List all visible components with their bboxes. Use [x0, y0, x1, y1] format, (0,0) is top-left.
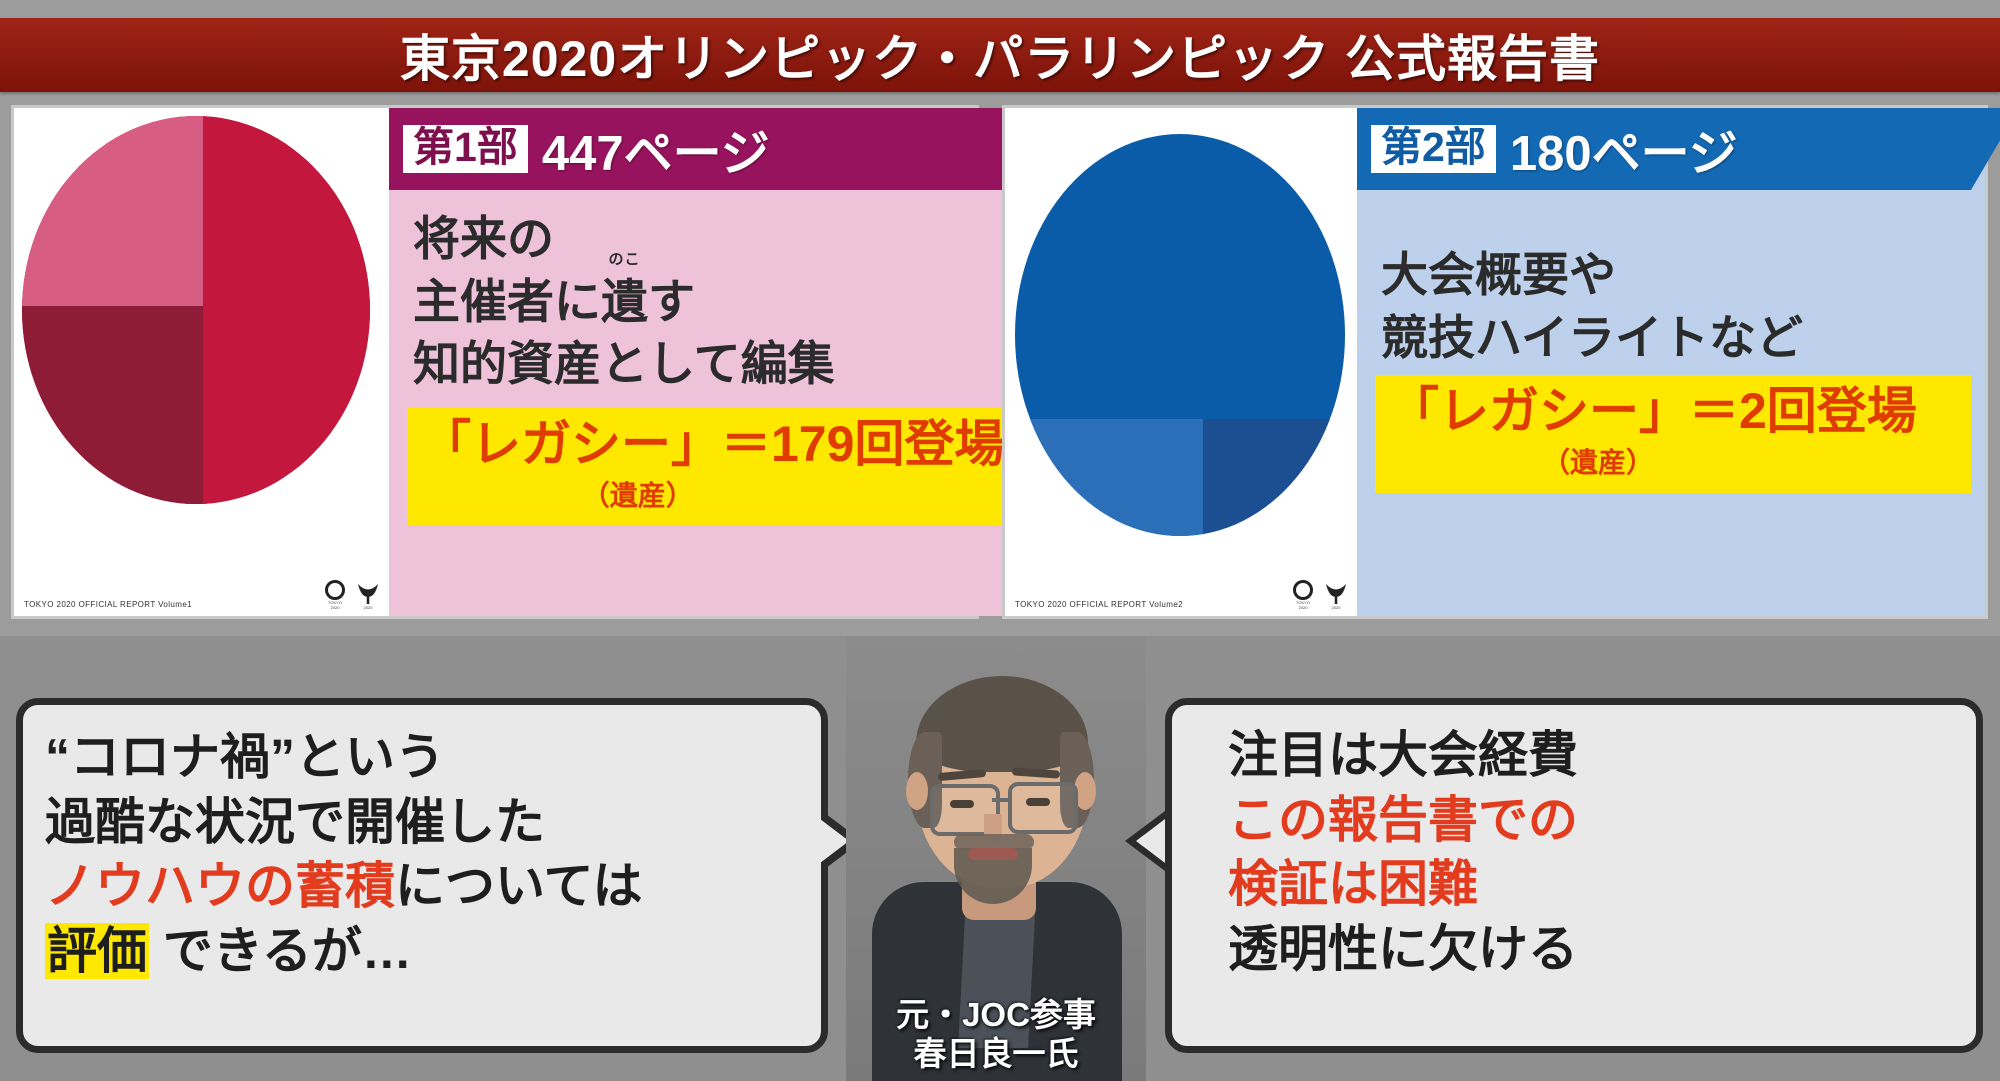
quote-right-line-3: 検証は困難 [1228, 852, 1976, 917]
panel-part-chip: 第2部 [1371, 125, 1496, 173]
quote-left-line-3: ノウハウの蓄積については [45, 854, 821, 919]
speech-bubble-right-text: 注目は大会経費 この報告書での 検証は困難 透明性に欠ける [1172, 705, 1976, 981]
cover-quadrant-light [1015, 419, 1203, 536]
cover-quadrant-light [22, 116, 203, 306]
panel-page-count: 447ページ [542, 114, 770, 185]
description-line-3: 知的資産として編集 [413, 333, 1032, 396]
page-header: 東京2020オリンピック・パラリンピック 公式報告書 [0, 18, 2000, 92]
legacy-count-sub: （遺産） [421, 474, 1004, 514]
commentary-section: “コロナ禍”という 過酷な状況で開催した ノウハウの蓄積については 評価 できる… [0, 636, 2000, 1081]
description-line-2: 主催者にのこ遺す [413, 271, 1032, 334]
emblem-group: TOKYO 2020 2020 [1290, 579, 1349, 611]
cover-footer-volume-1: TOKYO 2020 OFFICIAL REPORT Volume1 TOKYO… [24, 579, 381, 609]
panel-description-volume-1: 将来の 主催者にのこ遺す 知的資産として編集 [389, 190, 1032, 396]
svg-text:2020: 2020 [364, 605, 374, 610]
ruby-reading: のこ [608, 250, 640, 270]
speech-bubble-left-text: “コロナ禍”という 過酷な状況で開催した ノウハウの蓄積については 評価 できる… [23, 705, 821, 983]
olympic-emblem-icon: TOKYO 2020 [1290, 579, 1316, 611]
cover-footer-text: TOKYO 2020 OFFICIAL REPORT Volume2 [1015, 600, 1183, 609]
quote-left-line-1: “コロナ禍”という [45, 725, 821, 790]
speech-tail-right-fill [1136, 819, 1165, 863]
speaker-title: 元・JOC参事 [846, 996, 1146, 1034]
cover-footer-text: TOKYO 2020 OFFICIAL REPORT Volume1 [24, 600, 192, 609]
cover-circle-red [22, 116, 370, 504]
cover-quadrant-dark [22, 306, 203, 504]
panel-description-volume-2: 大会概要や 競技ハイライトなど [1357, 190, 1985, 369]
panel-info-volume-1: 第1部 447ページ 将来の 主催者にのこ遺す 知的資産として編集 「レガシー」… [389, 108, 1032, 616]
report-panels: TOKYO 2020 OFFICIAL REPORT Volume1 TOKYO… [0, 98, 2000, 626]
svg-text:2020: 2020 [1299, 605, 1309, 610]
legacy-count-main: 「レガシー」＝2回登場 [1389, 383, 1957, 439]
report-panel-volume-1: TOKYO 2020 OFFICIAL REPORT Volume1 TOKYO… [14, 108, 976, 616]
legacy-count-box-volume-1: 「レガシー」＝179回登場 （遺産） [407, 408, 1018, 526]
cover-circle-blue [1015, 134, 1345, 536]
ruby-noko: のこ遺 [601, 271, 648, 334]
description-line-1: 大会概要や [1381, 244, 1985, 307]
panel-page-count: 180ページ [1510, 114, 1738, 185]
olympic-emblem-icon: TOKYO 2020 [322, 579, 348, 611]
svg-text:2020: 2020 [331, 605, 341, 610]
legacy-count-main: 「レガシー」＝179回登場 [421, 416, 1004, 472]
cover-footer-volume-2: TOKYO 2020 OFFICIAL REPORT Volume2 TOKYO… [1015, 579, 1349, 609]
speaker-portrait: 元・JOC参事 春日良一氏 [846, 636, 1146, 1081]
description-line-2: 競技ハイライトなど [1381, 307, 1985, 370]
quote-right-line-1: 注目は大会経費 [1228, 723, 1976, 788]
panel-tag-band-volume-1: 第1部 447ページ [389, 108, 1056, 190]
speech-bubble-left: “コロナ禍”という 過酷な状況で開催した ノウハウの蓄積については 評価 できる… [16, 698, 828, 1053]
portrait-glasses-bridge [992, 798, 1010, 802]
speaker-caption: 元・JOC参事 春日良一氏 [846, 996, 1146, 1073]
emblem-group: TOKYO 2020 2020 [322, 579, 381, 611]
book-cover-volume-1: TOKYO 2020 OFFICIAL REPORT Volume1 TOKYO… [14, 108, 389, 616]
panel-tag-band-volume-2: 第2部 180ページ [1357, 108, 2000, 190]
description-line-1: 将来の [413, 208, 1032, 271]
legacy-count-box-volume-2: 「レガシー」＝2回登場 （遺産） [1375, 375, 1971, 493]
paralympic-emblem-icon: 2020 [1323, 579, 1349, 611]
portrait-ear-left [906, 772, 928, 810]
svg-text:2020: 2020 [1332, 605, 1342, 610]
speaker-name: 春日良一氏 [846, 1035, 1146, 1073]
quote-left-line-2: 過酷な状況で開催した [45, 790, 821, 855]
speech-bubble-right: 注目は大会経費 この報告書での 検証は困難 透明性に欠ける [1165, 698, 1983, 1053]
portrait-glasses-right-lens [1008, 782, 1078, 834]
ruby-base: 遺 [601, 275, 648, 328]
portrait-mouth [968, 848, 1018, 860]
legacy-count-sub: （遺産） [1389, 441, 1957, 481]
report-panel-volume-2: TOKYO 2020 OFFICIAL REPORT Volume2 TOKYO… [1005, 108, 1985, 616]
quote-left-line-3-rest: については [395, 858, 643, 914]
speech-tail-left-fill [820, 819, 849, 863]
quote-left-line-4-rest: できるが… [149, 923, 412, 979]
quote-right-line-2: この報告書での [1228, 788, 1976, 853]
quote-left-line-3-red: ノウハウの蓄積 [45, 858, 395, 914]
cover-quadrant-dark [1203, 419, 1345, 536]
paralympic-emblem-icon: 2020 [355, 579, 381, 611]
cover-quadrant-right [203, 116, 370, 504]
book-cover-volume-2: TOKYO 2020 OFFICIAL REPORT Volume2 TOKYO… [1005, 108, 1357, 616]
panel-part-chip: 第1部 [403, 125, 528, 173]
quote-left-line-4-mark: 評価 [45, 923, 149, 979]
quote-left-line-4: 評価 できるが… [45, 919, 821, 984]
quote-right-line-4: 透明性に欠ける [1228, 917, 1976, 982]
page-title: 東京2020オリンピック・パラリンピック 公式報告書 [400, 19, 1600, 91]
panel-info-volume-2: 第2部 180ページ 大会概要や 競技ハイライトなど 「レガシー」＝2回登場 （… [1357, 108, 1985, 616]
